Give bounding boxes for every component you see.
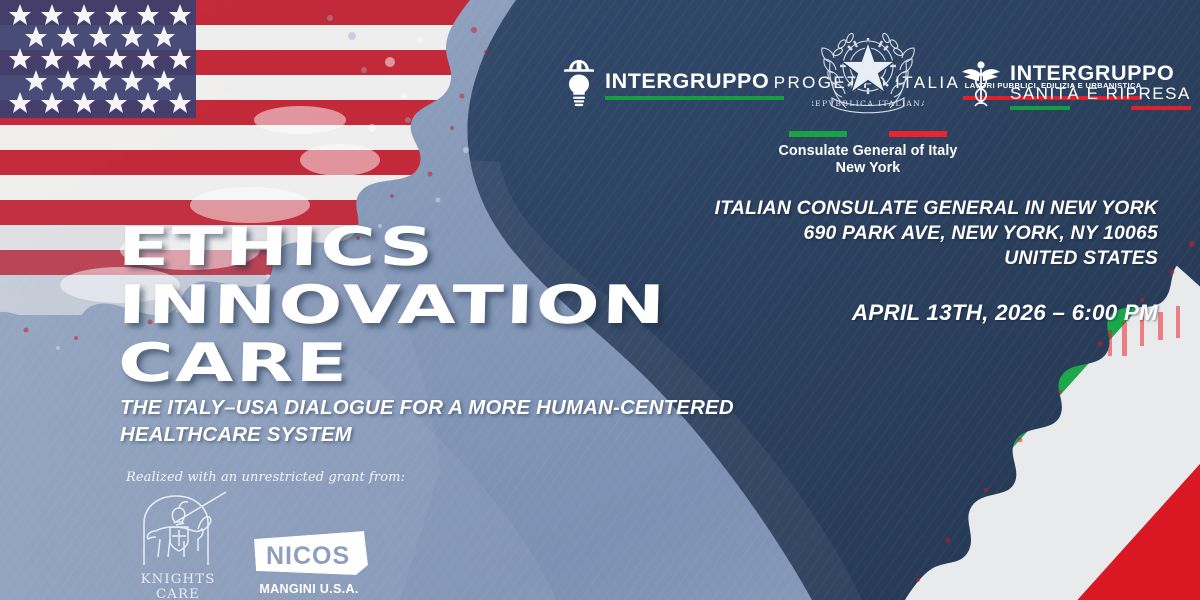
italian-republic-emblem: REPVBBLICA ITALIANA	[812, 16, 924, 128]
knights-care-name: KNIGHTS CARE	[126, 572, 230, 600]
event-datetime: APRIL 13TH, 2026 – 6:00 PM	[688, 300, 1158, 326]
consulate-name-line1: Consulate General of Italy	[743, 143, 993, 160]
title-line-2: INNOVATION	[117, 280, 667, 332]
grant-label: Realized with an unrestricted grant from…	[126, 470, 446, 485]
logo-nicos: NICOS MANGINI U.S.A.	[252, 531, 372, 600]
emblem-ribbon-text: REPVBBLICA ITALIANA	[812, 99, 924, 108]
nicos-subtitle: MANGINI U.S.A.	[252, 582, 372, 596]
venue-address: ITALIAN CONSULATE GENERAL IN NEW YORK 69…	[688, 196, 1158, 272]
title-line-3: CARE	[117, 338, 667, 390]
logo-intergruppo-sanita-ripresa: INTERGRUPPO SANITÀ E RIPRESA	[960, 58, 1191, 115]
knight-on-horseback-icon	[126, 489, 230, 569]
logo-isr-tricolor-rule	[1010, 106, 1191, 110]
logo-knights-care: KNIGHTS CARE	[126, 489, 230, 600]
consulate-name-line2: New York	[743, 160, 993, 177]
venue-line-2: 690 PARK AVE, NEW YORK, NY 10065	[688, 221, 1158, 246]
partner-logos: INTERGRUPPO PROGETTO ITALIA LAVORI PUBBL…	[540, 14, 1190, 166]
event-details: ITALIAN CONSULATE GENERAL IN NEW YORK 69…	[688, 196, 1158, 326]
nicos-wordmark: NICOS	[252, 531, 370, 577]
logo-isr-line1: INTERGRUPPO	[1010, 61, 1174, 85]
logo-consulate-general-italy: REPVBBLICA ITALIANA Consulate General of…	[743, 16, 993, 176]
title-line-1: ETHICS	[117, 222, 667, 274]
hardhat-lightbulb-icon	[562, 58, 596, 113]
sponsor-section: Realized with an unrestricted grant from…	[126, 470, 446, 600]
venue-line-3: UNITED STATES	[688, 246, 1158, 271]
logo-isr-line2: SANITÀ E RIPRESA	[1010, 84, 1191, 103]
caduceus-icon	[960, 58, 1002, 115]
event-banner: INTERGRUPPO PROGETTO ITALIA LAVORI PUBBL…	[0, 0, 1200, 600]
consulate-name: Consulate General of Italy New York	[743, 143, 993, 176]
venue-line-1: ITALIAN CONSULATE GENERAL IN NEW YORK	[688, 196, 1158, 221]
consulate-tricolor-rule	[743, 131, 993, 137]
page-title: ETHICS INNOVATION CARE	[118, 222, 505, 390]
event-subtitle: THE ITALY–USA DIALOGUE FOR A MORE HUMAN-…	[120, 395, 820, 449]
